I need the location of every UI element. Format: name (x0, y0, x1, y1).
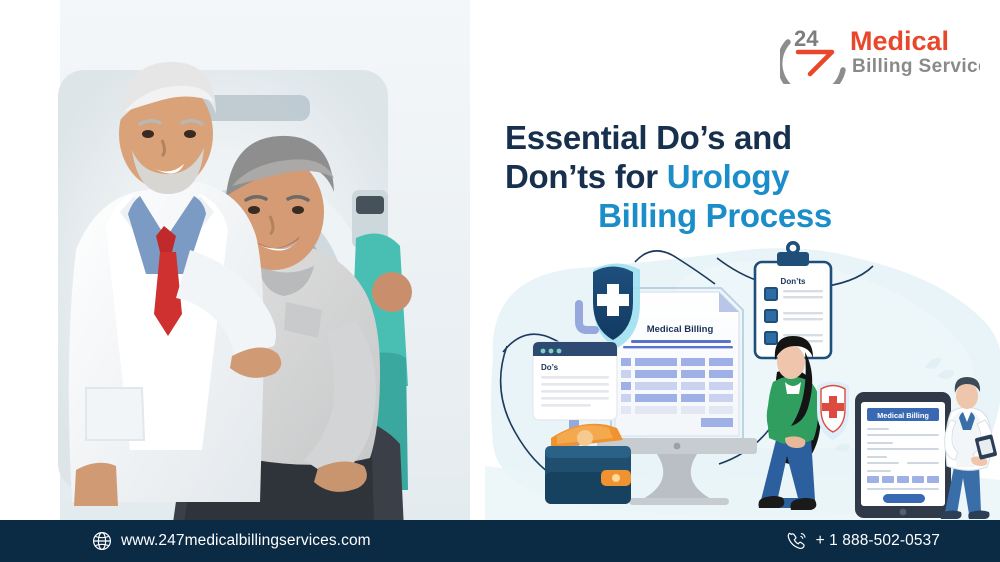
promo-banner: Essential Do’s and Don’ts for Urology Bi… (0, 0, 1000, 562)
tablet-submit-button[interactable] (883, 494, 925, 503)
logo-24-text: 24 (794, 26, 819, 51)
brand-logo[interactable]: 24 Medical Billing Services (780, 22, 980, 84)
logo-7-icon (798, 52, 832, 74)
dos-card-title: Do’s (541, 363, 559, 372)
tablet-form-boxes (867, 476, 939, 483)
headline-accent-billing-process: Billing Process (505, 196, 850, 235)
footer-website[interactable]: www.247medicalbillingservices.com (92, 531, 371, 551)
medical-billing-illustration: Medical Billing (485, 240, 1000, 522)
tablet-medical-billing[interactable]: Medical Billing (855, 392, 951, 518)
tablet-screen-title: Medical Billing (877, 411, 929, 420)
globe-icon (92, 531, 112, 551)
phone-ring-icon (787, 531, 807, 551)
donts-clipboard-title: Don’ts (781, 277, 806, 286)
headline-line-1: Essential Do’s and (505, 118, 850, 157)
doctor-patient-photo (0, 0, 470, 520)
headline-line-2: Don’ts for Urology (505, 157, 850, 196)
footer-phone-label: + 1 888-502-0537 (816, 532, 940, 550)
wallet-with-cash-icon (545, 424, 631, 504)
headline-accent-urology: Urology (667, 158, 790, 195)
page-title: Essential Do’s and Don’ts for Urology Bi… (505, 118, 850, 235)
logo-brand-primary: Medical (850, 26, 949, 56)
footer-bar: www.247medicalbillingservices.com + 1 88… (0, 520, 1000, 562)
monitor-screen-title: Medical Billing (647, 324, 714, 335)
footer-phone[interactable]: + 1 888-502-0537 (787, 531, 940, 551)
logo-brand-secondary: Billing Services (852, 56, 980, 77)
footer-website-label: www.247medicalbillingservices.com (121, 532, 371, 550)
headline-line-2-plain: Don’ts for (505, 158, 667, 195)
